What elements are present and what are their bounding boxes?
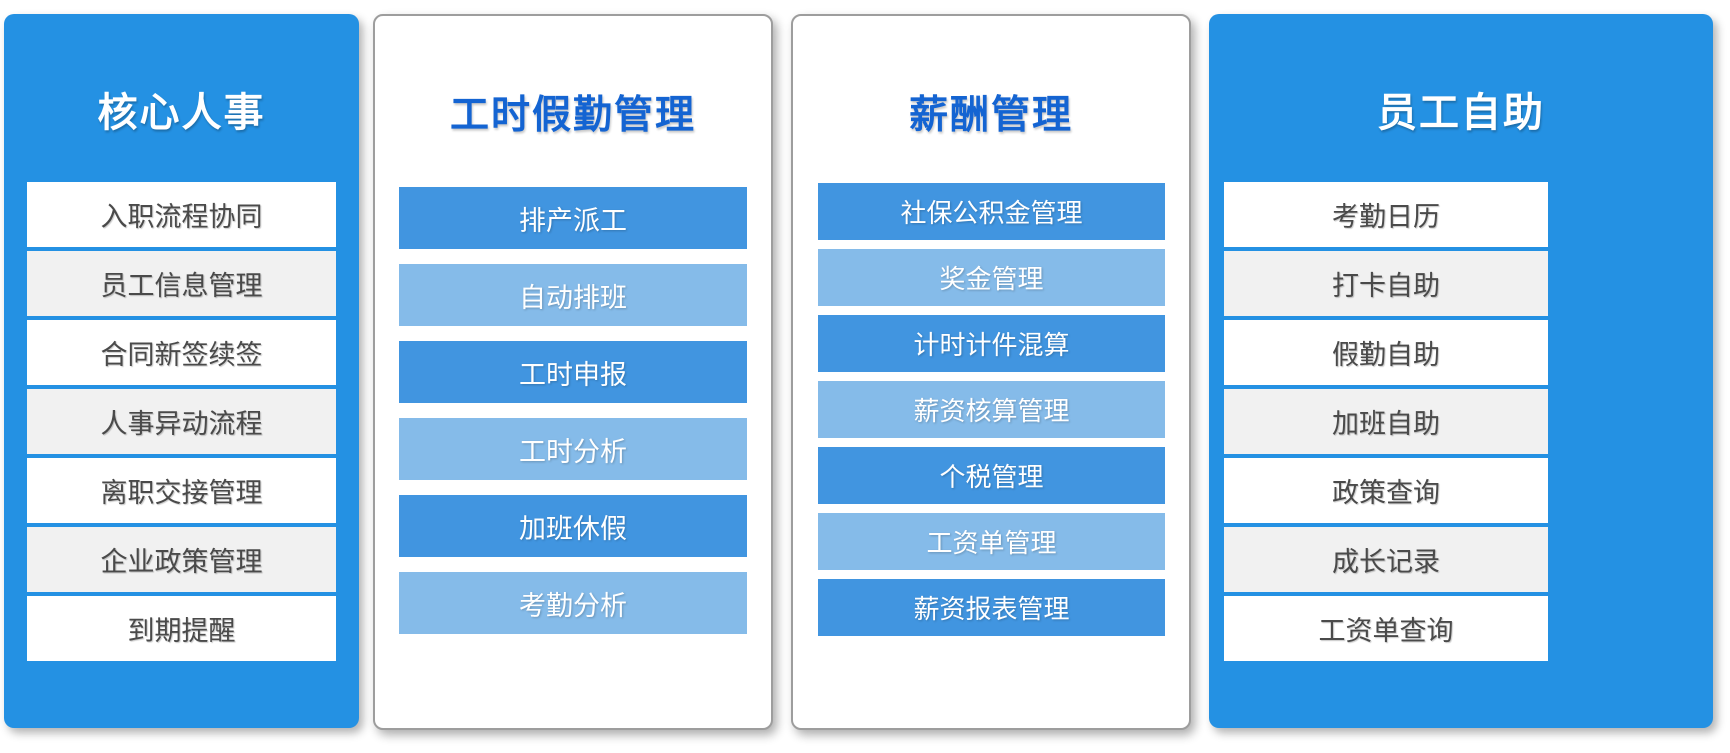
module-item-label: 加班自助 [1332,402,1440,441]
module-item-label: 工资单管理 [926,523,1056,560]
module-item[interactable]: 加班自助 [1224,389,1548,454]
module-item[interactable]: 工资单查询 [1224,596,1548,661]
module-item[interactable]: 加班休假 [399,495,747,557]
module-item[interactable]: 打卡自助 [1224,251,1548,316]
module-item-label: 合同新签续签 [101,333,263,372]
module-item[interactable]: 薪资核算管理 [818,381,1165,438]
module-item[interactable]: 成长记录 [1224,527,1548,592]
module-item[interactable]: 排产派工 [399,187,747,249]
card-title-payroll: 薪酬管理 [793,84,1189,140]
module-item-label: 工资单查询 [1319,609,1454,648]
module-item-label: 员工信息管理 [101,264,263,303]
card-title-core-hr: 核心人事 [4,80,359,138]
module-card-core-hr: 核心人事 入职流程协同员工信息管理合同新签续签人事异动流程离职交接管理企业政策管… [4,14,359,728]
module-item[interactable]: 工资单管理 [818,513,1165,570]
module-item-label: 薪资报表管理 [913,589,1069,626]
module-item[interactable]: 假勤自助 [1224,320,1548,385]
module-card-employee-self-service: 员工自助 考勤日历打卡自助假勤自助加班自助政策查询成长记录工资单查询 [1209,14,1713,728]
module-card-payroll: 薪酬管理 社保公积金管理奖金管理计时计件混算薪资核算管理个税管理工资单管理薪资报… [791,14,1191,730]
module-item[interactable]: 工时分析 [399,418,747,480]
module-item-label: 入职流程协同 [101,195,263,234]
module-overview-board: 核心人事 入职流程协同员工信息管理合同新签续签人事异动流程离职交接管理企业政策管… [0,0,1730,753]
module-item-label: 奖金管理 [939,259,1043,296]
module-item-label: 加班休假 [519,507,627,546]
module-item[interactable]: 考勤分析 [399,572,747,634]
module-item-label: 考勤日历 [1332,195,1440,234]
module-item-label: 工时分析 [519,430,627,469]
module-item[interactable]: 自动排班 [399,264,747,326]
module-item[interactable]: 员工信息管理 [27,251,336,316]
module-item-label: 个税管理 [939,457,1043,494]
module-item-label: 政策查询 [1332,471,1440,510]
module-card-time-attendance: 工时假勤管理 排产派工自动排班工时申报工时分析加班休假考勤分析 [373,14,773,730]
module-item-label: 假勤自助 [1332,333,1440,372]
module-item-list-time-attendance: 排产派工自动排班工时申报工时分析加班休假考勤分析 [399,187,747,649]
module-item[interactable]: 政策查询 [1224,458,1548,523]
module-item-label: 离职交接管理 [101,471,263,510]
module-item[interactable]: 个税管理 [818,447,1165,504]
card-title-employee-self-service: 员工自助 [1209,80,1713,138]
module-item-label: 排产派工 [519,199,627,238]
card-title-time-attendance: 工时假勤管理 [375,84,771,140]
module-item[interactable]: 社保公积金管理 [818,183,1165,240]
module-item-label: 自动排班 [519,276,627,315]
module-item[interactable]: 人事异动流程 [27,389,336,454]
module-item-label: 打卡自助 [1332,264,1440,303]
module-item-label: 到期提醒 [128,609,236,648]
module-item[interactable]: 考勤日历 [1224,182,1548,247]
module-item[interactable]: 计时计件混算 [818,315,1165,372]
module-item[interactable]: 入职流程协同 [27,182,336,247]
module-item[interactable]: 离职交接管理 [27,458,336,523]
module-item-label: 社保公积金管理 [900,193,1082,230]
module-item[interactable]: 合同新签续签 [27,320,336,385]
module-item-label: 计时计件混算 [913,325,1069,362]
module-item-label: 成长记录 [1332,540,1440,579]
module-item-label: 考勤分析 [519,584,627,623]
module-item-label: 薪资核算管理 [913,391,1069,428]
module-item[interactable]: 企业政策管理 [27,527,336,592]
module-item-label: 企业政策管理 [101,540,263,579]
module-item-list-employee-self-service: 考勤日历打卡自助假勤自助加班自助政策查询成长记录工资单查询 [1224,182,1548,665]
module-item-list-core-hr: 入职流程协同员工信息管理合同新签续签人事异动流程离职交接管理企业政策管理到期提醒 [27,182,336,665]
module-item[interactable]: 薪资报表管理 [818,579,1165,636]
module-item-label: 工时申报 [519,353,627,392]
module-item[interactable]: 到期提醒 [27,596,336,661]
module-item-list-payroll: 社保公积金管理奖金管理计时计件混算薪资核算管理个税管理工资单管理薪资报表管理 [818,183,1165,645]
module-item[interactable]: 工时申报 [399,341,747,403]
module-item[interactable]: 奖金管理 [818,249,1165,306]
module-item-label: 人事异动流程 [101,402,263,441]
